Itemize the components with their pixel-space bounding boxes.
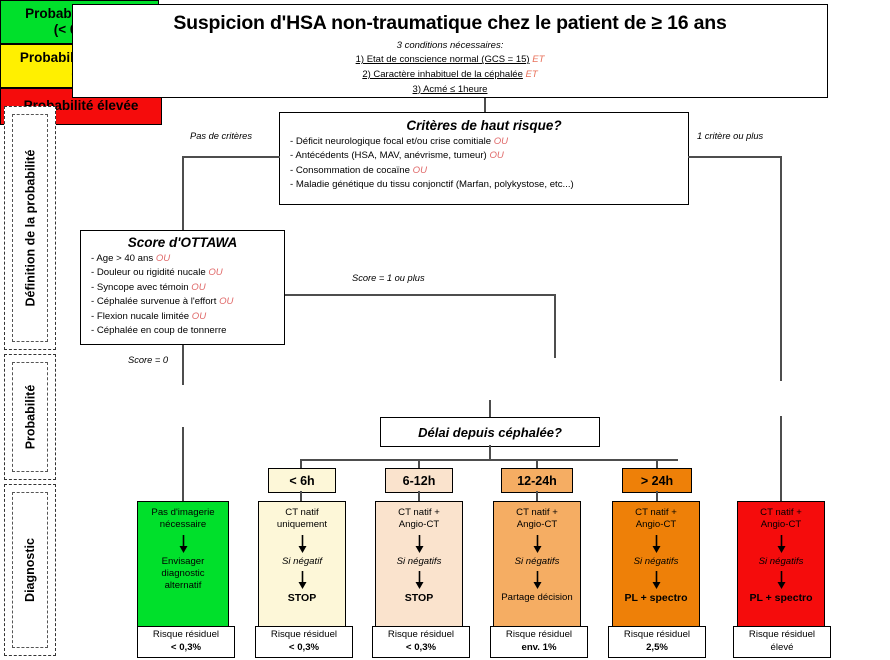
residual-risk-value: 2,5% — [646, 642, 668, 655]
diagnostic-step: STOP — [288, 592, 316, 605]
residual-risk-gt24h: Risque résiduel 2,5% — [608, 626, 706, 658]
connector-intermediate-to-delay — [489, 400, 491, 417]
connector-high-to-diag — [780, 416, 782, 501]
diagnostic-step: Si négatifs — [515, 556, 560, 568]
ottawa-item: - Céphalée en coup de tonnerre — [91, 324, 278, 338]
residual-risk-label: Risque résiduel — [624, 629, 690, 642]
edge-label-score-one-plus: Score = 1 ou plus — [352, 273, 425, 283]
arrow-down-icon — [651, 535, 662, 553]
ottawa-item: - Flexion nucale limitée OU — [91, 310, 278, 324]
high-risk-item: - Déficit neurologique focal et/ou crise… — [290, 135, 682, 149]
connector-highrisk-right-v — [780, 156, 782, 381]
arrow-down-icon — [651, 571, 662, 589]
diagnostic-step: Si négatifs — [397, 556, 442, 568]
diagnostic-step: PL + spectro — [624, 592, 687, 605]
ottawa-item: - Syncope avec témoin OU — [91, 281, 278, 295]
connector-chip1-to-diag — [418, 491, 420, 501]
ottawa-list: - Age > 40 ans OU - Douleur ou rigidité … — [87, 252, 278, 338]
condition-2-conjunction: ET — [526, 69, 538, 80]
ottawa-item: - Douleur ou rigidité nucale OU — [91, 266, 278, 280]
lane-definition-probability: Définition de la probabilité — [4, 106, 56, 350]
condition-3: 3) Acmé ≤ 1heure — [81, 83, 819, 98]
diagnostic-step: CT natif + Angio-CT — [398, 507, 440, 532]
residual-risk-label: Risque résiduel — [749, 629, 815, 642]
diagnostic-step: Si négatifs — [759, 556, 804, 568]
residual-risk-value: < 0,3% — [289, 642, 319, 655]
lane-diagnostic: Diagnostic — [4, 484, 56, 656]
residual-risk-value: élevé — [771, 642, 794, 655]
ottawa-item: - Céphalée survenue à l'effort OU — [91, 295, 278, 309]
high-risk-item: - Antécédents (HSA, MAV, anévrisme, tume… — [290, 149, 682, 163]
connector-chip0-to-diag — [300, 491, 302, 501]
lane-diagnostic-inner: Diagnostic — [12, 492, 48, 648]
connector-highrisk-left-h — [182, 156, 280, 158]
ottawa-item: - Age > 40 ans OU — [91, 252, 278, 266]
flowchart-canvas: Définition de la probabilité Probabilité… — [0, 0, 890, 660]
connector-delay-to-opt-2 — [536, 459, 538, 468]
high-risk-list: - Déficit neurologique focal et/ou crise… — [286, 135, 682, 193]
delay-option-label: > 24h — [641, 474, 673, 488]
delay-question-label: Délai depuis céphalée? — [418, 425, 562, 440]
connector-highrisk-left-v — [182, 156, 184, 230]
residual-risk-green: Risque résiduel < 0,3% — [137, 626, 235, 658]
diagnostic-step: Pas d'imagerie nécessaire — [151, 507, 214, 532]
residual-risk-value: < 0,3% — [171, 642, 201, 655]
lane-label: Probabilité — [23, 385, 37, 450]
lane-probability-inner: Probabilité — [12, 362, 48, 472]
residual-risk-label: Risque résiduel — [153, 629, 219, 642]
residual-risk-6-12h: Risque résiduel < 0,3% — [372, 626, 470, 658]
diagnostic-step: CT natif + Angio-CT — [516, 507, 558, 532]
condition-2: 2) Caractère inhabituel de la céphalée E… — [81, 68, 819, 83]
connector-ottawa-right-v — [554, 294, 556, 358]
edge-label-one-or-more: 1 critère ou plus — [697, 131, 763, 141]
residual-risk-label: Risque résiduel — [506, 629, 572, 642]
residual-risk-label: Risque résiduel — [388, 629, 454, 642]
condition-2-text: 2) Caractère inhabituel de la céphalée — [362, 69, 523, 80]
ottawa-title: Score d'OTTAWA — [87, 235, 278, 250]
residual-risk-label: Risque résiduel — [271, 629, 337, 642]
diagnostic-box-high: CT natif + Angio-CT Si négatifs PL + spe… — [737, 501, 825, 627]
lane-definition-probability-inner: Définition de la probabilité — [12, 114, 48, 342]
edge-label-no-criteria: Pas de critères — [190, 131, 252, 141]
arrow-down-icon — [297, 535, 308, 553]
diagnostic-box-green: Pas d'imagerie nécessaire Envisager diag… — [137, 501, 229, 627]
condition-3-text: 3) Acmé ≤ 1heure — [413, 84, 488, 95]
diagnostic-step: CT natif uniquement — [277, 507, 327, 532]
arrow-down-icon — [414, 535, 425, 553]
high-risk-item: - Maladie génétique du tissu conjonctif … — [290, 178, 682, 192]
diagnostic-step: Si négatif — [282, 556, 322, 568]
delay-question-box: Délai depuis céphalée? — [380, 417, 600, 447]
residual-risk-lt6h: Risque résiduel < 0,3% — [255, 626, 353, 658]
diagnostic-step: Envisager diagnostic alternatif — [161, 556, 204, 593]
connector-delay-to-opt-3 — [656, 459, 658, 468]
diagnostic-step: Si négatifs — [634, 556, 679, 568]
page-title: Suspicion d'HSA non-traumatique chez le … — [81, 11, 819, 35]
edge-label-score-zero: Score = 0 — [128, 355, 168, 365]
lane-label: Diagnostic — [23, 538, 37, 602]
residual-risk-high: Risque résiduel élevé — [733, 626, 831, 658]
condition-1-conjunction: ET — [532, 54, 544, 65]
delay-option-6-12h[interactable]: 6-12h — [385, 468, 453, 493]
condition-1: 1) Etat de conscience normal (GCS = 15) … — [81, 53, 819, 68]
connector-ottawa-right-h — [285, 294, 555, 296]
condition-1-text: 1) Etat de conscience normal (GCS = 15) — [356, 54, 530, 65]
connector-chip3-to-diag — [656, 491, 658, 501]
connector-delay-bus — [300, 459, 678, 461]
connector-delay-to-opt-1 — [418, 459, 420, 468]
lane-label: Définition de la probabilité — [23, 150, 37, 307]
diagnostic-step: STOP — [405, 592, 433, 605]
ottawa-score-box: Score d'OTTAWA - Age > 40 ans OU - Doule… — [80, 230, 285, 345]
high-risk-item: - Consommation de cocaïne OU — [290, 164, 682, 178]
residual-risk-value: env. 1% — [521, 642, 556, 655]
connector-title-to-highrisk — [484, 98, 486, 112]
delay-option-lt6h[interactable]: < 6h — [268, 468, 336, 493]
arrow-down-icon — [414, 571, 425, 589]
delay-option-label: < 6h — [289, 474, 314, 488]
delay-option-label: 6-12h — [403, 474, 436, 488]
residual-risk-12-24h: Risque résiduel env. 1% — [490, 626, 588, 658]
arrow-down-icon — [178, 535, 189, 553]
title-box: Suspicion d'HSA non-traumatique chez le … — [72, 4, 828, 98]
diagnostic-box-12-24h: CT natif + Angio-CT Si négatifs Partage … — [493, 501, 581, 627]
diagnostic-box-6-12h: CT natif + Angio-CT Si négatifs STOP — [375, 501, 463, 627]
connector-delay-down — [489, 445, 491, 459]
delay-option-gt24h[interactable]: > 24h — [622, 468, 692, 493]
diagnostic-step: Partage décision — [501, 592, 572, 604]
conditions-intro: 3 conditions nécessaires: — [81, 39, 819, 53]
arrow-down-icon — [776, 571, 787, 589]
diagnostic-step: CT natif + Angio-CT — [635, 507, 677, 532]
arrow-down-icon — [776, 535, 787, 553]
connector-ottawa-down-v — [182, 345, 184, 385]
diagnostic-box-lt6h: CT natif uniquement Si négatif STOP — [258, 501, 346, 627]
diagnostic-box-gt24h: CT natif + Angio-CT Si négatifs PL + spe… — [612, 501, 700, 627]
high-risk-criteria-box: Critères de haut risque? - Déficit neuro… — [279, 112, 689, 205]
connector-delay-to-opt-0 — [300, 459, 302, 468]
delay-option-12-24h[interactable]: 12-24h — [501, 468, 573, 493]
residual-risk-value: < 0,3% — [406, 642, 436, 655]
diagnostic-step: PL + spectro — [749, 592, 812, 605]
high-risk-title: Critères de haut risque? — [286, 118, 682, 133]
delay-option-label: 12-24h — [517, 474, 557, 488]
connector-highrisk-right-h — [688, 156, 781, 158]
arrow-down-icon — [532, 535, 543, 553]
diagnostic-step: CT natif + Angio-CT — [760, 507, 802, 532]
arrow-down-icon — [297, 571, 308, 589]
arrow-down-icon — [532, 571, 543, 589]
connector-chip2-to-diag — [536, 491, 538, 501]
connector-low-to-diag — [182, 427, 184, 501]
lane-probability: Probabilité — [4, 354, 56, 480]
